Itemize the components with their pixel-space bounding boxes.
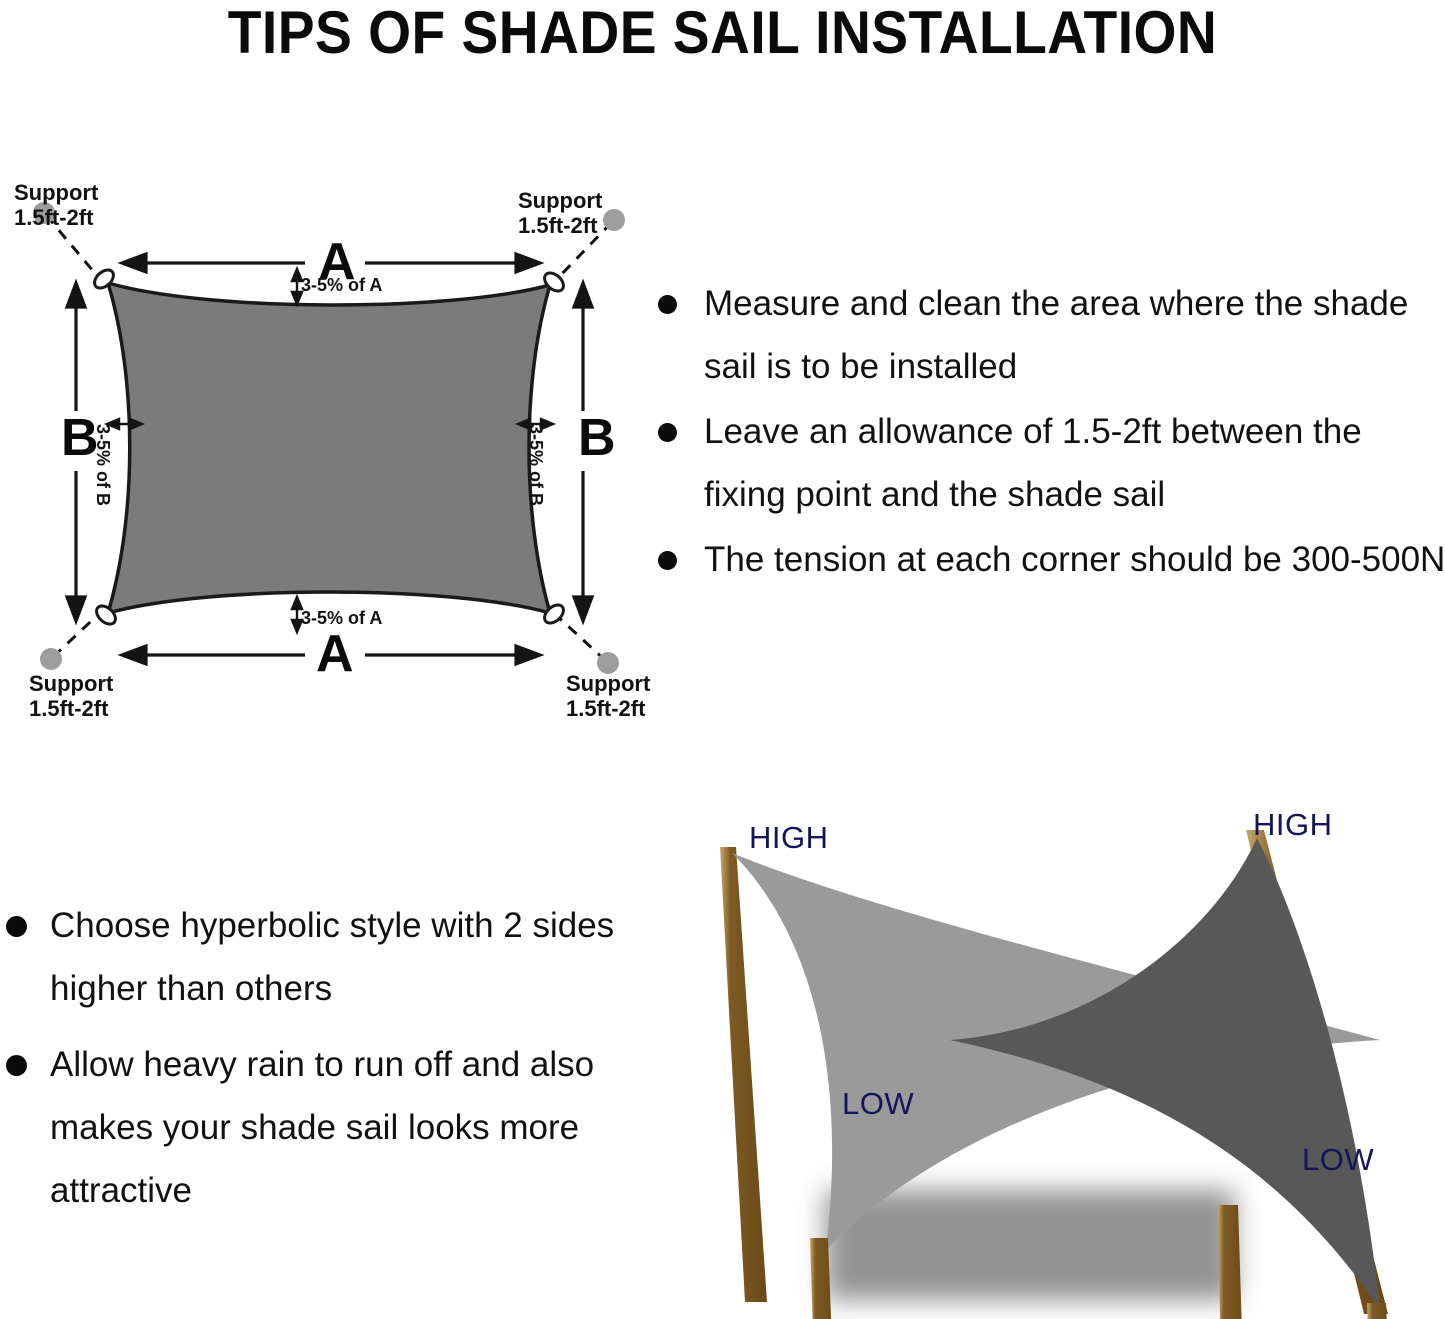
support-label-top-left-line1: Support [14,180,98,205]
support-label-bottom-right-line2: 1.5ft-2ft [566,696,650,721]
curvature-label-top: 3-5% of A [301,275,382,295]
curvature-label-bottom: 3-5% of A [301,608,382,628]
support-label-bottom-right-line1: Support [566,671,650,696]
ground-shadow [825,1190,1235,1300]
label-high-left: HIGH [749,821,829,854]
curvature-label-right: 3-5% of B [526,424,546,506]
hyperbolic-shade-sail-illustration [620,790,1445,1319]
support-label-bottom-left-line2: 1.5ft-2ft [29,696,113,721]
list-item: Measure and clean the area where the sha… [646,272,1445,398]
support-label-top-right-line2: 1.5ft-2ft [518,213,602,238]
support-label-bottom-left-line1: Support [29,671,113,696]
tips-list-left: Choose hyperbolic style with 2 sides hig… [0,894,620,1235]
support-label-top-left: Support 1.5ft-2ft [14,180,98,230]
list-item: The tension at each corner should be 300… [646,528,1445,591]
label-low-left: LOW [842,1087,914,1120]
support-label-top-right-line1: Support [518,188,602,213]
dimension-label-bottom-a: A [316,628,354,680]
support-label-top-left-line2: 1.5ft-2ft [14,205,98,230]
infographic-page: TIPS OF SHADE SAIL INSTALLATION [0,0,1445,1319]
shade-sail-shape [108,283,550,613]
list-item: Leave an allowance of 1.5-2ft between th… [646,400,1445,526]
support-label-bottom-right: Support 1.5ft-2ft [566,671,650,721]
list-item: Allow heavy rain to run off and also mak… [0,1033,620,1222]
curvature-label-left: 3-5% of B [93,424,113,506]
support-label-top-right: Support 1.5ft-2ft [518,188,602,238]
label-high-right: HIGH [1253,808,1333,841]
label-low-right: LOW [1302,1143,1374,1176]
support-label-bottom-left: Support 1.5ft-2ft [29,671,113,721]
page-title: TIPS OF SHADE SAIL INSTALLATION [58,2,1387,64]
list-item: Choose hyperbolic style with 2 sides hig… [0,894,620,1020]
tips-list-right: Measure and clean the area where the sha… [646,272,1445,593]
dimension-label-right-b: B [578,412,616,464]
